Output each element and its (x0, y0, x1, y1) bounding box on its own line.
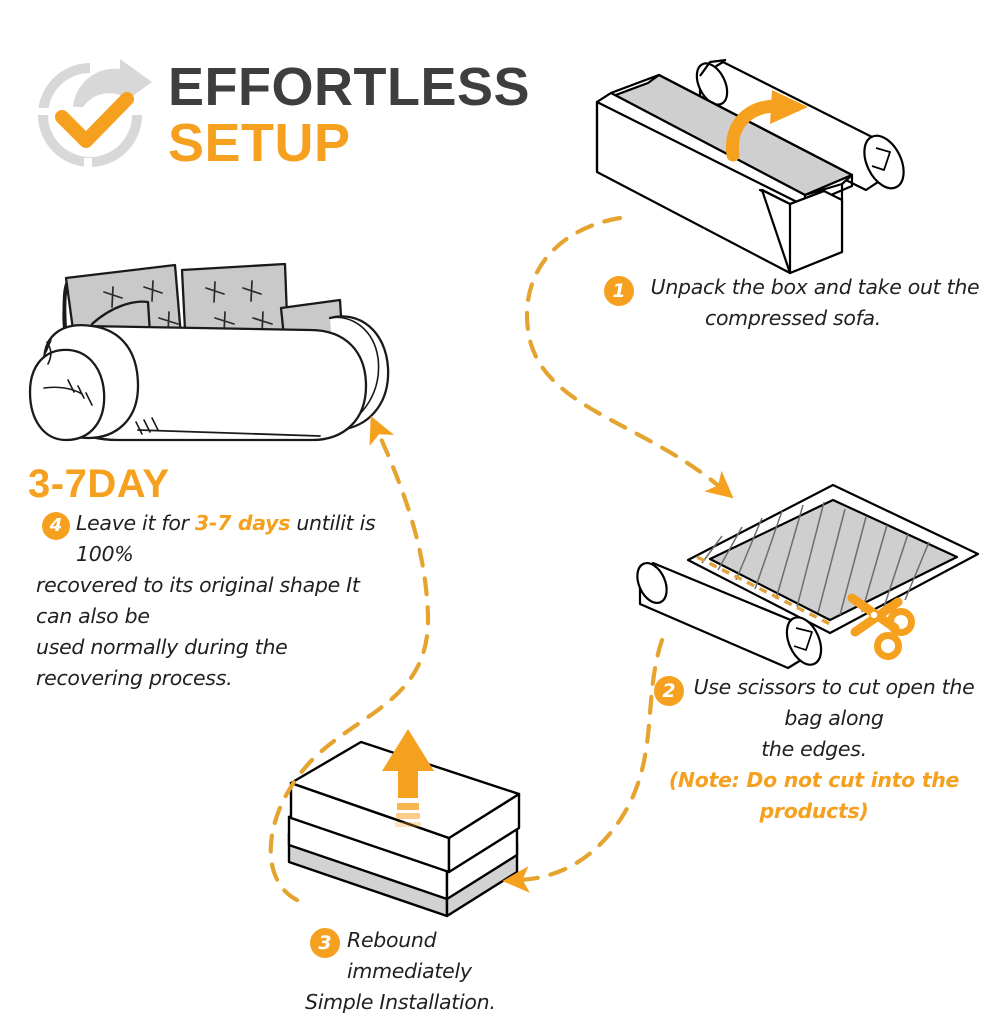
step-3-line-1: Rebound immediately (305, 925, 565, 987)
scissors-icon (852, 598, 912, 657)
step-4-prefix: Leave it for (76, 511, 195, 535)
step-4-highlight: 3-7 days (195, 511, 290, 535)
carton-box-illustration (597, 59, 912, 273)
step-1-text: Unpack the box and take out the compress… (598, 272, 988, 334)
step-2-note: (Note: Do not cut into the products) (640, 765, 988, 827)
page-title: EFFORTLESS SETUP (168, 60, 598, 172)
step-4-text: Leave it for 3-7 days untilit is 100% re… (36, 508, 392, 694)
step-3-text: Rebound immediately Simple Installation. (305, 925, 565, 1018)
step-2-line-2: the edges. (640, 734, 988, 765)
title-line-1: EFFORTLESS (168, 60, 598, 114)
step-1-line-2: compressed sofa. (598, 303, 988, 334)
title-line-2: SETUP (168, 114, 598, 172)
vacuum-bag-illustration (632, 485, 978, 670)
step-4-line-3: used normally during the recovering proc… (36, 632, 392, 694)
refresh-check-icon (34, 59, 152, 178)
sofa-illustration (30, 264, 388, 440)
step-2-line-1: Use scissors to cut open the bag along (640, 672, 988, 734)
step-3-line-2: Simple Installation. (305, 987, 565, 1018)
step-1-line-1: Unpack the box and take out the (598, 272, 988, 303)
step-4-line-1: Leave it for 3-7 days untilit is 100% (36, 508, 392, 570)
dashed-arrow-1-to-2 (527, 218, 720, 487)
step-4-line-2: recovered to its original shape It can a… (36, 570, 392, 632)
day-heading: 3-7DAY (28, 463, 170, 505)
infographic-canvas: EFFORTLESS SETUP 3-7DAY 1 Unpack the box… (0, 0, 1000, 1000)
step-2-text: Use scissors to cut open the bag along t… (640, 672, 988, 827)
